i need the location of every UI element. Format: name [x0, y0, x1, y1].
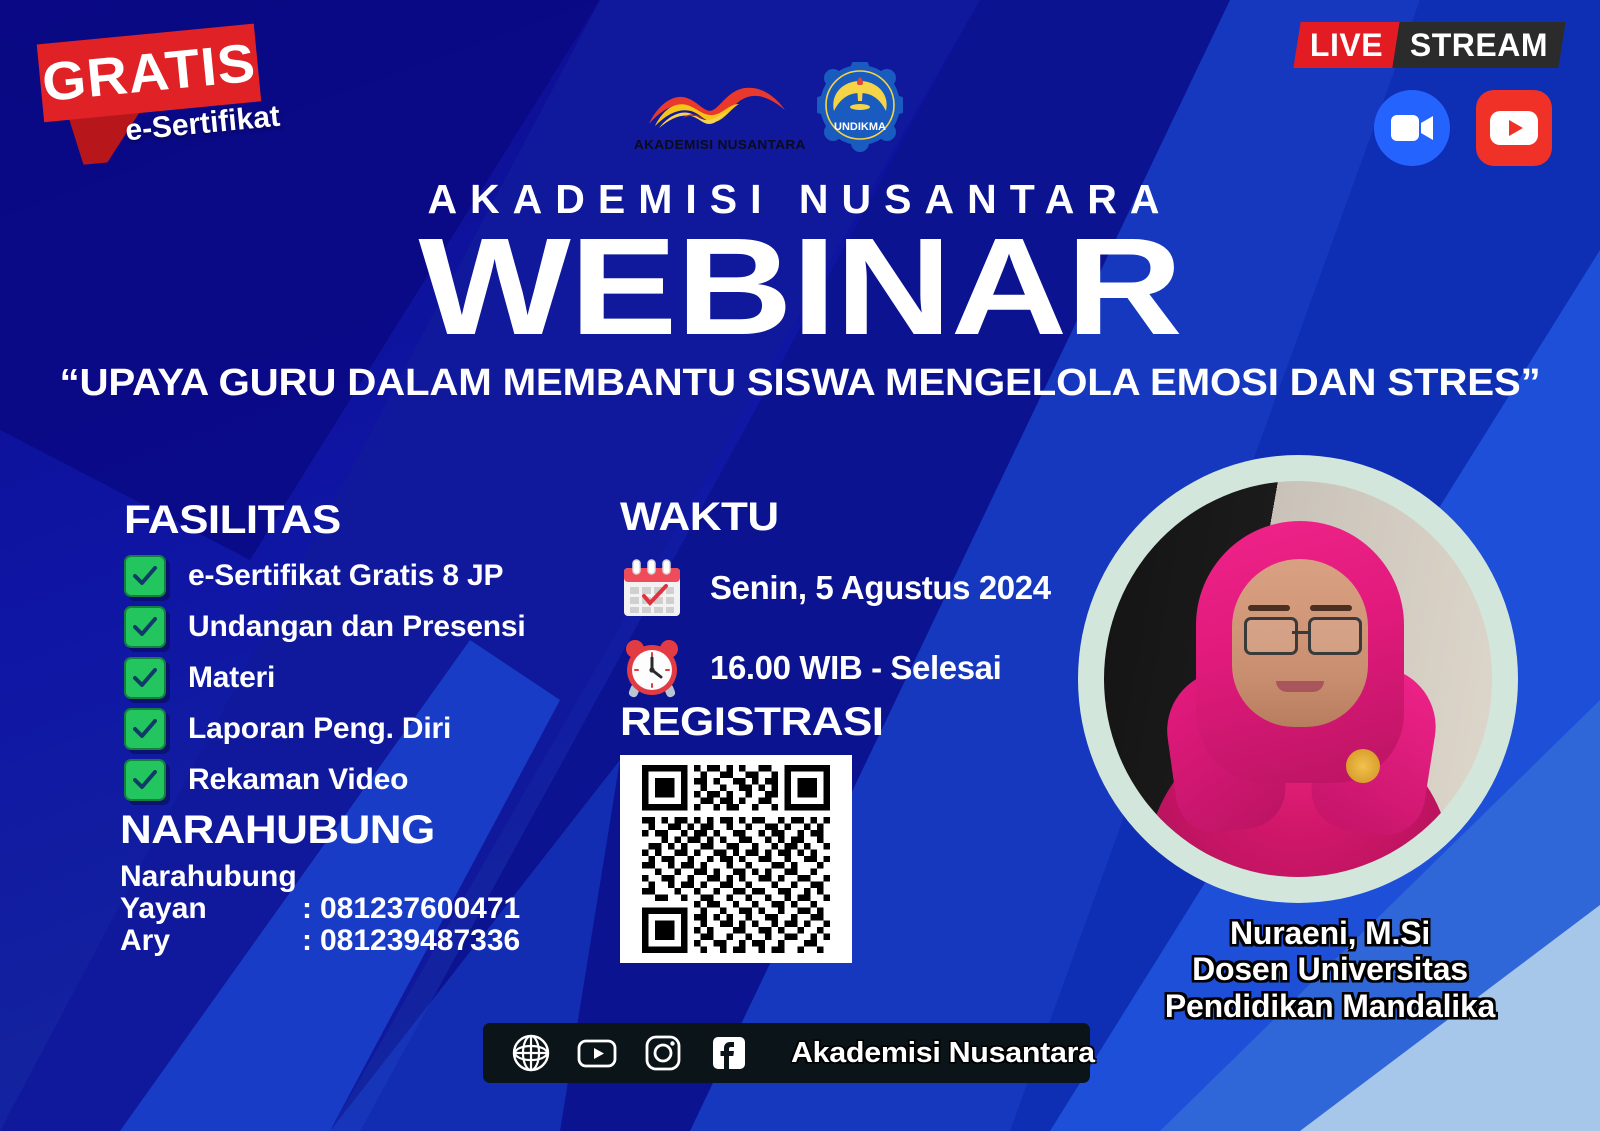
- fasilitas-section: FASILITAS e-Sertifikat Gratis 8 JP Undan…: [124, 498, 594, 810]
- event-time: 16.00 WIB - Selesai: [710, 649, 1001, 687]
- speaker-info: Nuraeni, M.Si Dosen Universitas Pendidik…: [1060, 915, 1600, 1024]
- registrasi-section: REGISTRASI: [620, 700, 859, 963]
- page-title: WEBINAR: [0, 218, 1600, 356]
- fasilitas-heading: FASILITAS: [124, 498, 641, 543]
- narahubung-heading: NARAHUBUNG: [120, 808, 637, 853]
- photo-mouth: [1276, 681, 1324, 692]
- speaker-section: Nuraeni, M.Si Dosen Universitas Pendidik…: [1060, 455, 1600, 1024]
- fasilitas-item-label: e-Sertifikat Gratis 8 JP: [188, 559, 503, 593]
- list-item: e-Sertifikat Gratis 8 JP: [124, 555, 594, 597]
- date-row: Senin, 5 Agustus 2024: [620, 556, 1060, 620]
- youtube-icon[interactable]: [1476, 90, 1552, 166]
- organizer-logos: AKADEMISI NUSANTARA UNDIKM: [645, 62, 903, 152]
- webinar-poster: GRATIS e-Sertifikat LIVE STREAM: [0, 0, 1600, 1131]
- narahubung-label: Narahubung: [120, 861, 297, 893]
- list-item: Laporan Peng. Diri: [124, 708, 594, 750]
- photo-brooch: [1346, 749, 1380, 783]
- check-icon: [124, 708, 166, 750]
- check-icon: [124, 606, 166, 648]
- akademisi-nusantara-logo: AKADEMISI NUSANTARA: [645, 80, 795, 152]
- fasilitas-item-label: Rekaman Video: [188, 763, 408, 797]
- waktu-heading: WAKTU: [620, 495, 1104, 540]
- fasilitas-item-label: Materi: [188, 661, 275, 695]
- live-label: LIVE: [1310, 27, 1383, 64]
- stream-label: STREAM: [1410, 27, 1548, 64]
- zoom-icon[interactable]: [1374, 90, 1450, 166]
- contact-row: Ary : 081239487336: [120, 925, 590, 957]
- contact-separator: :: [302, 893, 320, 925]
- photo-brow-left: [1248, 605, 1290, 611]
- narahubung-body: Narahubung Yayan : 081237600471 Ary : 08…: [120, 861, 590, 957]
- svg-text:UNDIKMA: UNDIKMA: [834, 121, 886, 133]
- speaker-photo-frame: [1078, 455, 1518, 903]
- live-stream-block: LIVE STREAM: [1262, 22, 1562, 166]
- akademisi-logo-caption: AKADEMISI NUSANTARA: [634, 137, 806, 152]
- contact-name: Yayan: [120, 893, 302, 925]
- platform-icons: [1262, 90, 1562, 166]
- live-stream-tag: LIVE STREAM: [1258, 22, 1565, 68]
- contact-phone[interactable]: 081237600471: [320, 893, 520, 925]
- youtube-icon[interactable]: [577, 1033, 617, 1073]
- fasilitas-item-label: Laporan Peng. Diri: [188, 712, 451, 746]
- calendar-icon: [620, 556, 684, 620]
- live-chip: LIVE: [1293, 22, 1399, 68]
- photo-brow-right: [1310, 605, 1352, 611]
- qr-code-container[interactable]: [620, 755, 852, 963]
- event-date: Senin, 5 Agustus 2024: [710, 569, 1051, 607]
- speaker-name: Nuraeni, M.Si: [1060, 915, 1600, 951]
- registrasi-heading: REGISTRASI: [620, 700, 883, 745]
- facebook-icon[interactable]: [709, 1033, 749, 1073]
- photo-glasses-left: [1244, 617, 1298, 655]
- instagram-icon[interactable]: [643, 1033, 683, 1073]
- gratis-badge: GRATIS e-Sertifikat: [23, 5, 316, 181]
- check-icon: [124, 657, 166, 699]
- speaker-role-line-1: Dosen Universitas: [1060, 951, 1600, 987]
- contact-name: Ary: [120, 925, 302, 957]
- photo-glasses-right: [1308, 617, 1362, 655]
- time-row: 16.00 WIB - Selesai: [620, 636, 1060, 700]
- page-subtitle: “UPAYA GURU DALAM MEMBANTU SISWA MENGELO…: [0, 362, 1600, 405]
- waktu-section: WAKTU Senin, 5 Agustus 2024: [620, 495, 1060, 700]
- stream-chip: STREAM: [1392, 22, 1565, 68]
- contact-row: Yayan : 081237600471: [120, 893, 590, 925]
- fasilitas-item-label: Undangan dan Presensi: [188, 610, 526, 644]
- globe-icon[interactable]: [511, 1033, 551, 1073]
- photo-glasses-bridge: [1292, 631, 1308, 634]
- check-icon: [124, 759, 166, 801]
- narahubung-section: NARAHUBUNG Narahubung Yayan : 0812376004…: [120, 808, 590, 957]
- contact-phone[interactable]: 081239487336: [320, 925, 520, 957]
- speaker-photo: [1104, 481, 1492, 877]
- speaker-role-line-2: Pendidikan Mandalika: [1060, 988, 1600, 1024]
- social-bar: Akademisi Nusantara: [483, 1023, 1090, 1083]
- list-item: Undangan dan Presensi: [124, 606, 594, 648]
- fasilitas-list: e-Sertifikat Gratis 8 JP Undangan dan Pr…: [124, 555, 594, 801]
- undikma-logo: UNDIKMA: [817, 62, 903, 152]
- list-item: Materi: [124, 657, 594, 699]
- check-icon: [124, 555, 166, 597]
- list-item: Rekaman Video: [124, 759, 594, 801]
- narahubung-label-row: Narahubung: [120, 861, 590, 893]
- alarm-clock-icon: [620, 636, 684, 700]
- registration-qr-code[interactable]: [630, 765, 842, 953]
- contact-separator: :: [302, 925, 320, 957]
- social-handle: Akademisi Nusantara: [791, 1037, 1095, 1070]
